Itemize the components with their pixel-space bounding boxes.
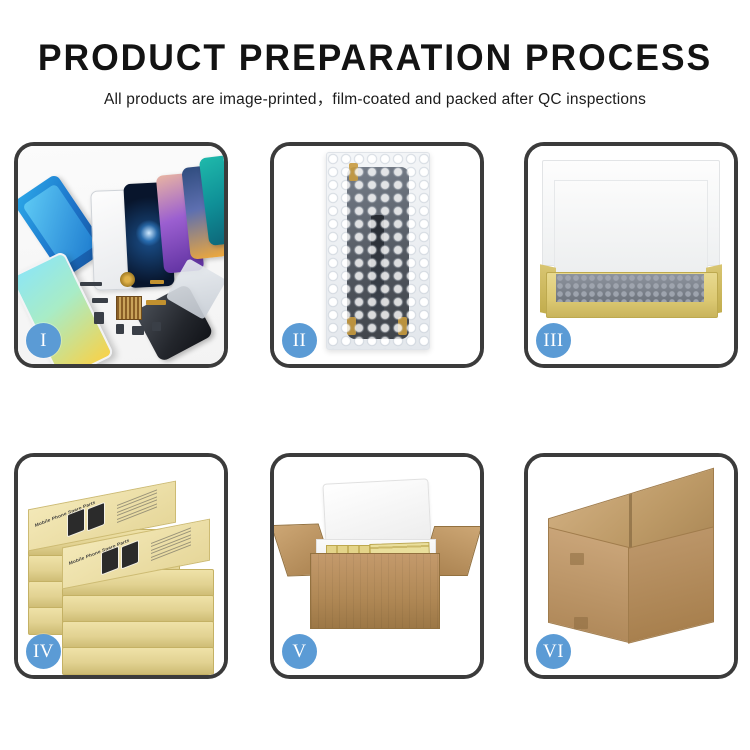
flex-cable-icon bbox=[150, 280, 164, 284]
process-step-4: Mobile Phone Spare Parts Mobile Phone Sp… bbox=[14, 453, 228, 679]
box-print-spec-lines-front bbox=[151, 527, 191, 563]
carton-right-face bbox=[628, 526, 714, 643]
bubble-wrap-layer bbox=[556, 274, 704, 302]
carton-left-face bbox=[548, 527, 630, 643]
step-badge-1: I bbox=[26, 323, 61, 358]
camera-module-icon bbox=[94, 312, 104, 324]
process-step-2: II bbox=[270, 142, 484, 368]
stacked-box-8 bbox=[62, 647, 214, 675]
process-step-3: III bbox=[524, 142, 738, 368]
vibrator-part-icon bbox=[132, 326, 144, 335]
page-subtitle: All products are image-printed，film-coat… bbox=[0, 87, 750, 109]
carton-tape-lower-icon bbox=[574, 617, 588, 629]
product-preparation-infographic: PRODUCT PREPARATION PROCESS All products… bbox=[0, 0, 750, 750]
stacked-box-7 bbox=[62, 621, 214, 649]
bubble-wrap-bag bbox=[326, 152, 430, 350]
ribbon-cable-icon bbox=[146, 300, 166, 305]
screen-flex-cable-icon bbox=[371, 215, 384, 311]
step-badge-2: II bbox=[282, 323, 317, 358]
foam-lid bbox=[322, 478, 431, 547]
gold-tab-bottom-left-icon bbox=[347, 317, 356, 335]
gold-tab-top-icon bbox=[349, 163, 358, 181]
step-badge-5: V bbox=[282, 634, 317, 669]
carton-tape-upper-icon bbox=[570, 553, 584, 565]
stacked-box-6 bbox=[62, 595, 214, 623]
sensor-part-icon bbox=[152, 322, 161, 331]
process-step-6: VI bbox=[524, 453, 738, 679]
gold-tab-bottom-right-icon bbox=[398, 317, 407, 335]
page-title: PRODUCT PREPARATION PROCESS bbox=[15, 36, 735, 80]
process-step-grid: I II bbox=[14, 142, 738, 679]
process-step-1: I bbox=[14, 142, 228, 368]
header: PRODUCT PREPARATION PROCESS All products… bbox=[0, 36, 750, 109]
button-part-icon bbox=[116, 324, 124, 334]
process-step-5: V bbox=[270, 453, 484, 679]
box-print-spec-lines-rear bbox=[117, 489, 157, 525]
small-part-icon bbox=[92, 298, 108, 303]
logic-board-icon bbox=[116, 296, 142, 320]
carton-body bbox=[310, 553, 440, 629]
step-badge-4: IV bbox=[26, 634, 61, 669]
foam-sheet bbox=[554, 180, 708, 278]
step-badge-6: VI bbox=[536, 634, 571, 669]
connector-chip-icon bbox=[80, 282, 102, 286]
step-badge-3: III bbox=[536, 323, 571, 358]
speaker-coil-icon bbox=[120, 272, 135, 287]
